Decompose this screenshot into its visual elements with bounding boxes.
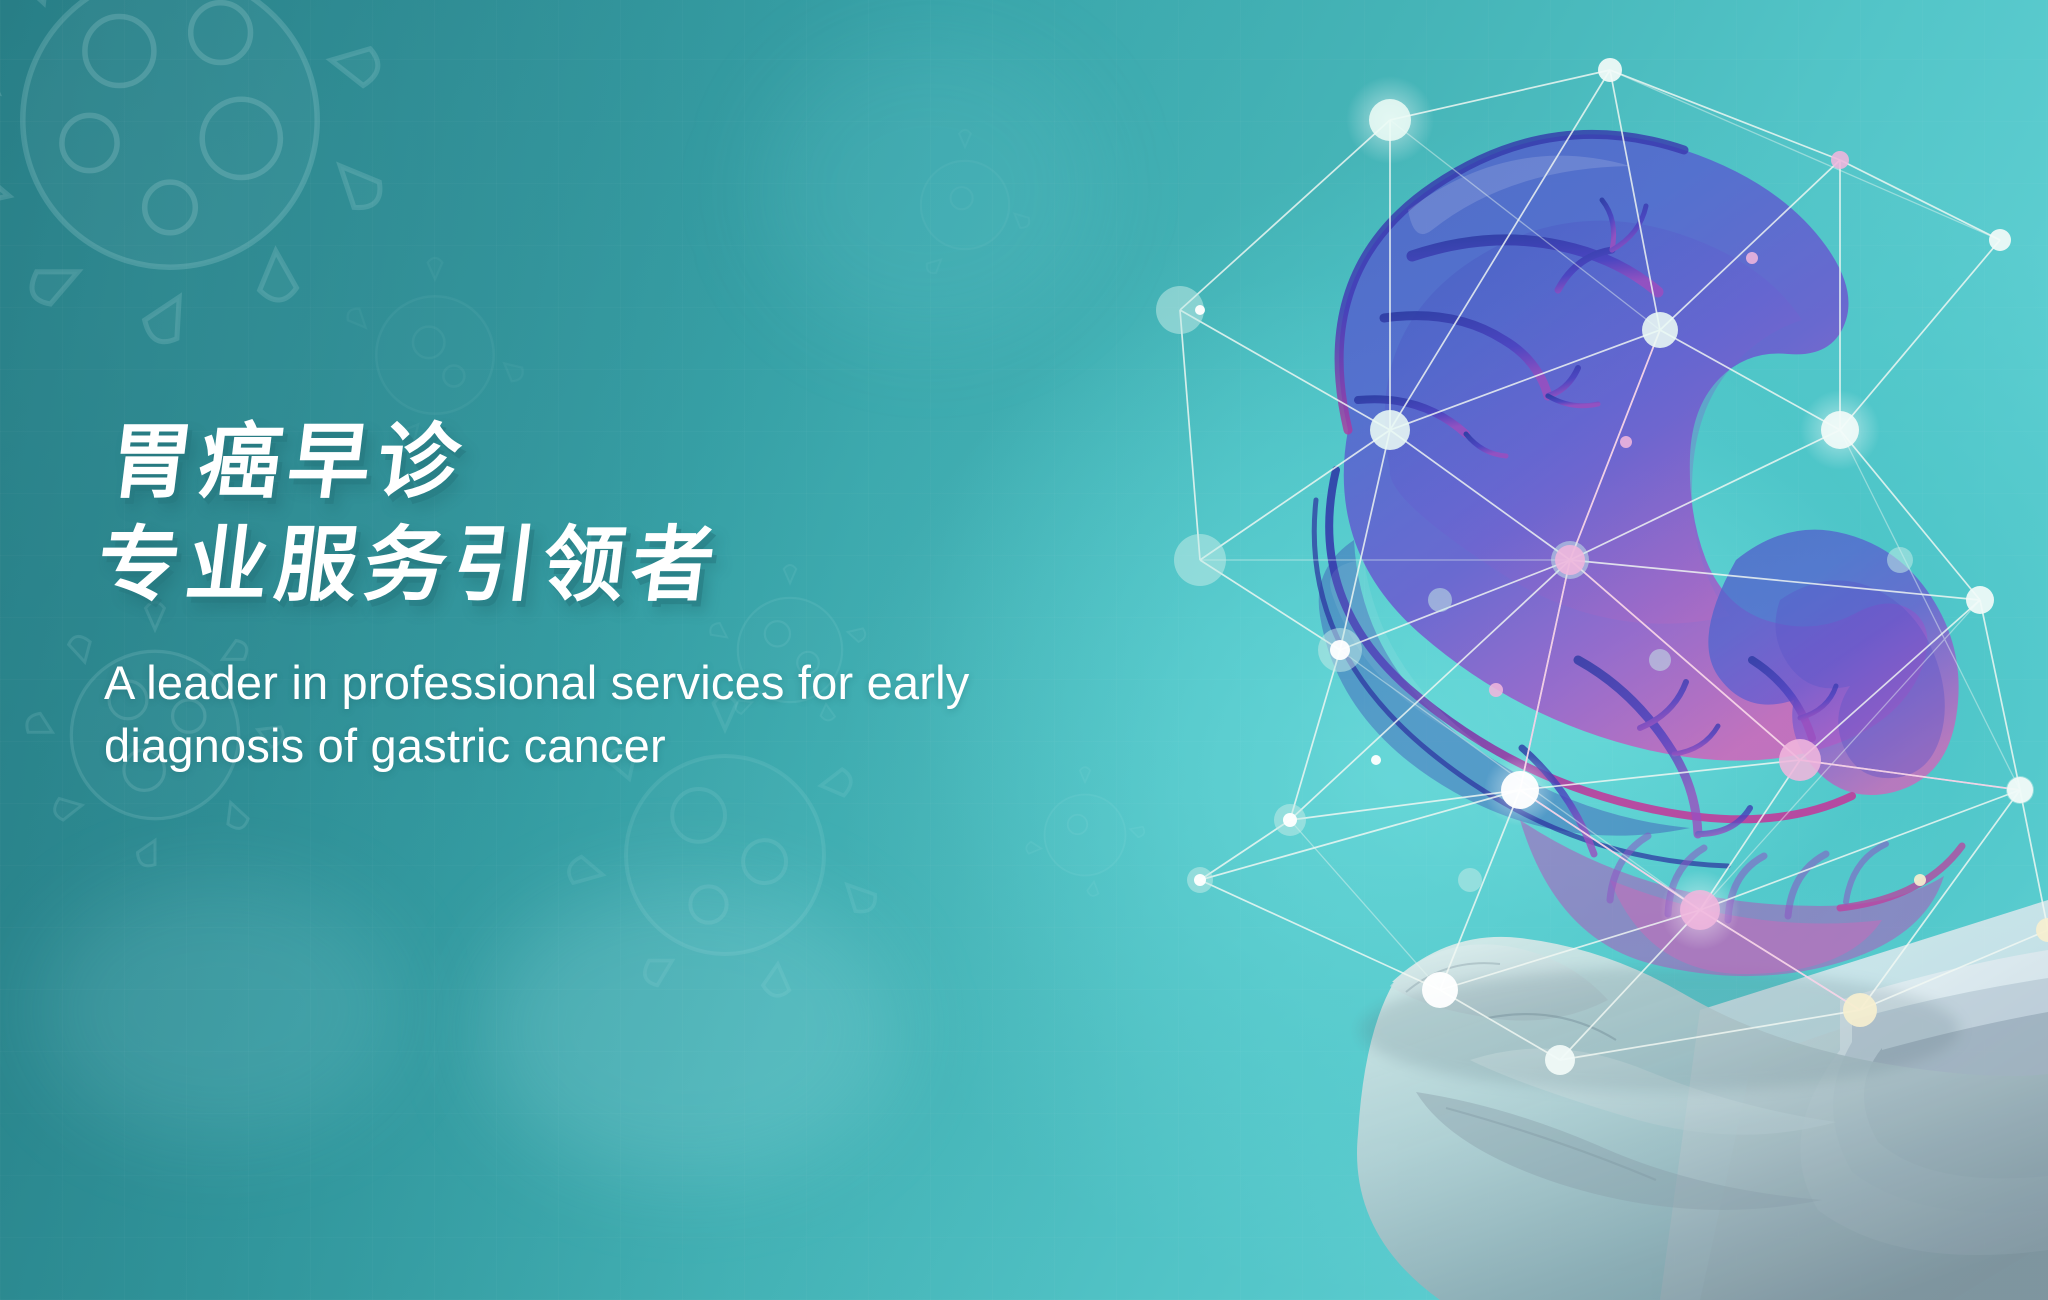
headline-line-2: 专业服务引领者: [92, 518, 1104, 615]
page-title: 胃癌早诊 专业服务引领者: [92, 415, 1116, 615]
headline-line-1: 胃癌早诊: [104, 415, 1116, 512]
stomach-in-hand-illustration: [1140, 0, 2048, 1300]
gastric-cancer-hero-banner: 胃癌早诊 专业服务引领者 A leader in professional se…: [0, 0, 2048, 1300]
stomach-organ-graphic: [1314, 134, 1962, 976]
hero-text-block: 胃癌早诊 专业服务引领者 A leader in professional se…: [104, 415, 1104, 778]
subtitle-line-1: A leader in professional services for ea…: [104, 651, 1104, 715]
subtitle-line-2: diagnosis of gastric cancer: [104, 714, 1104, 778]
page-subtitle: A leader in professional services for ea…: [104, 651, 1104, 779]
